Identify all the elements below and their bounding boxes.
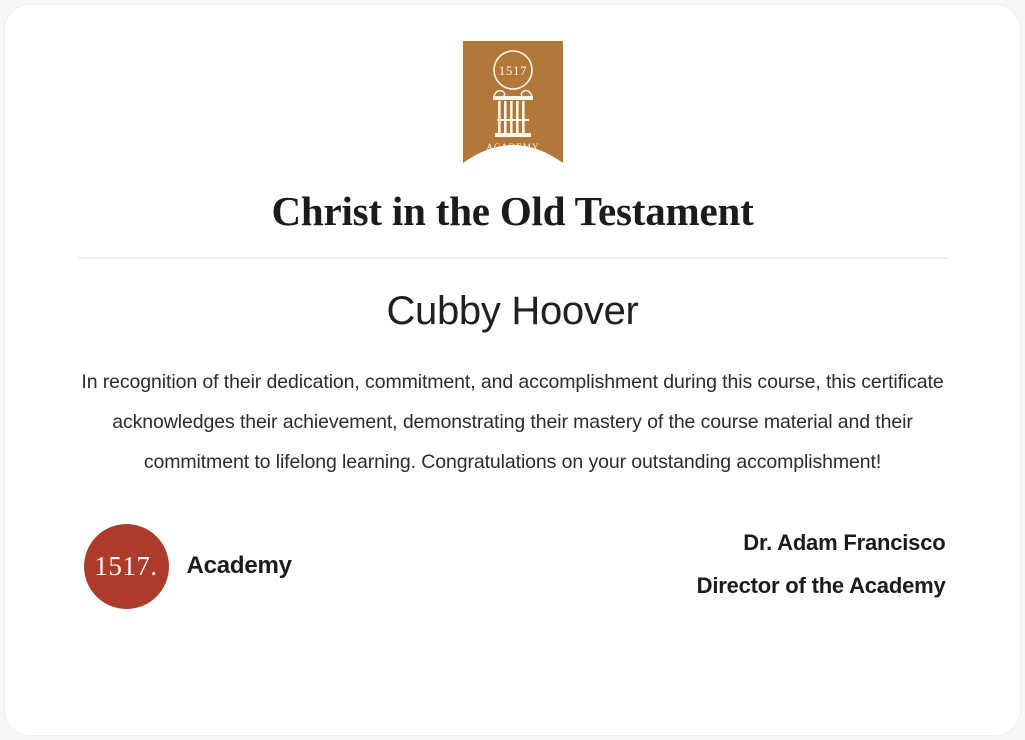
academy-seal-group: 1517. Academy [78, 524, 292, 609]
column-flute [516, 101, 519, 133]
column-base [495, 133, 531, 137]
column-flute [504, 101, 507, 133]
logo-academy-text: ACADEMY [486, 142, 539, 152]
column-flute [510, 101, 513, 133]
academy-ribbon-logo-graphic: 1517 ACADEMY [463, 41, 563, 163]
signature-block: Dr. Adam Francisco Director of the Acade… [697, 524, 948, 597]
signatory-role: Director of the Academy [697, 575, 946, 597]
title-divider [78, 257, 947, 259]
recipient-name: Cubby Hoover [386, 267, 638, 334]
column-band [497, 119, 529, 121]
certificate-footer: 1517. Academy Dr. Adam Francisco Directo… [78, 524, 948, 609]
certificate-body-text: In recognition of their dedication, comm… [78, 334, 948, 482]
column-flute [522, 101, 525, 133]
academy-ribbon-logo: 1517 ACADEMY [463, 41, 563, 163]
certificate-card: 1517 ACADEMY Christ in the Old Testament… [4, 4, 1021, 736]
column-capital [493, 96, 533, 100]
academy-brand-label: Academy [187, 552, 292, 580]
column-flute [498, 101, 501, 133]
logo-year-text: 1517 [498, 63, 526, 78]
seal-year-label: 1517. [94, 551, 157, 582]
academy-seal-badge: 1517. [84, 524, 169, 609]
page-title: Christ in the Old Testament [271, 163, 753, 235]
signatory-name: Dr. Adam Francisco [697, 532, 946, 554]
